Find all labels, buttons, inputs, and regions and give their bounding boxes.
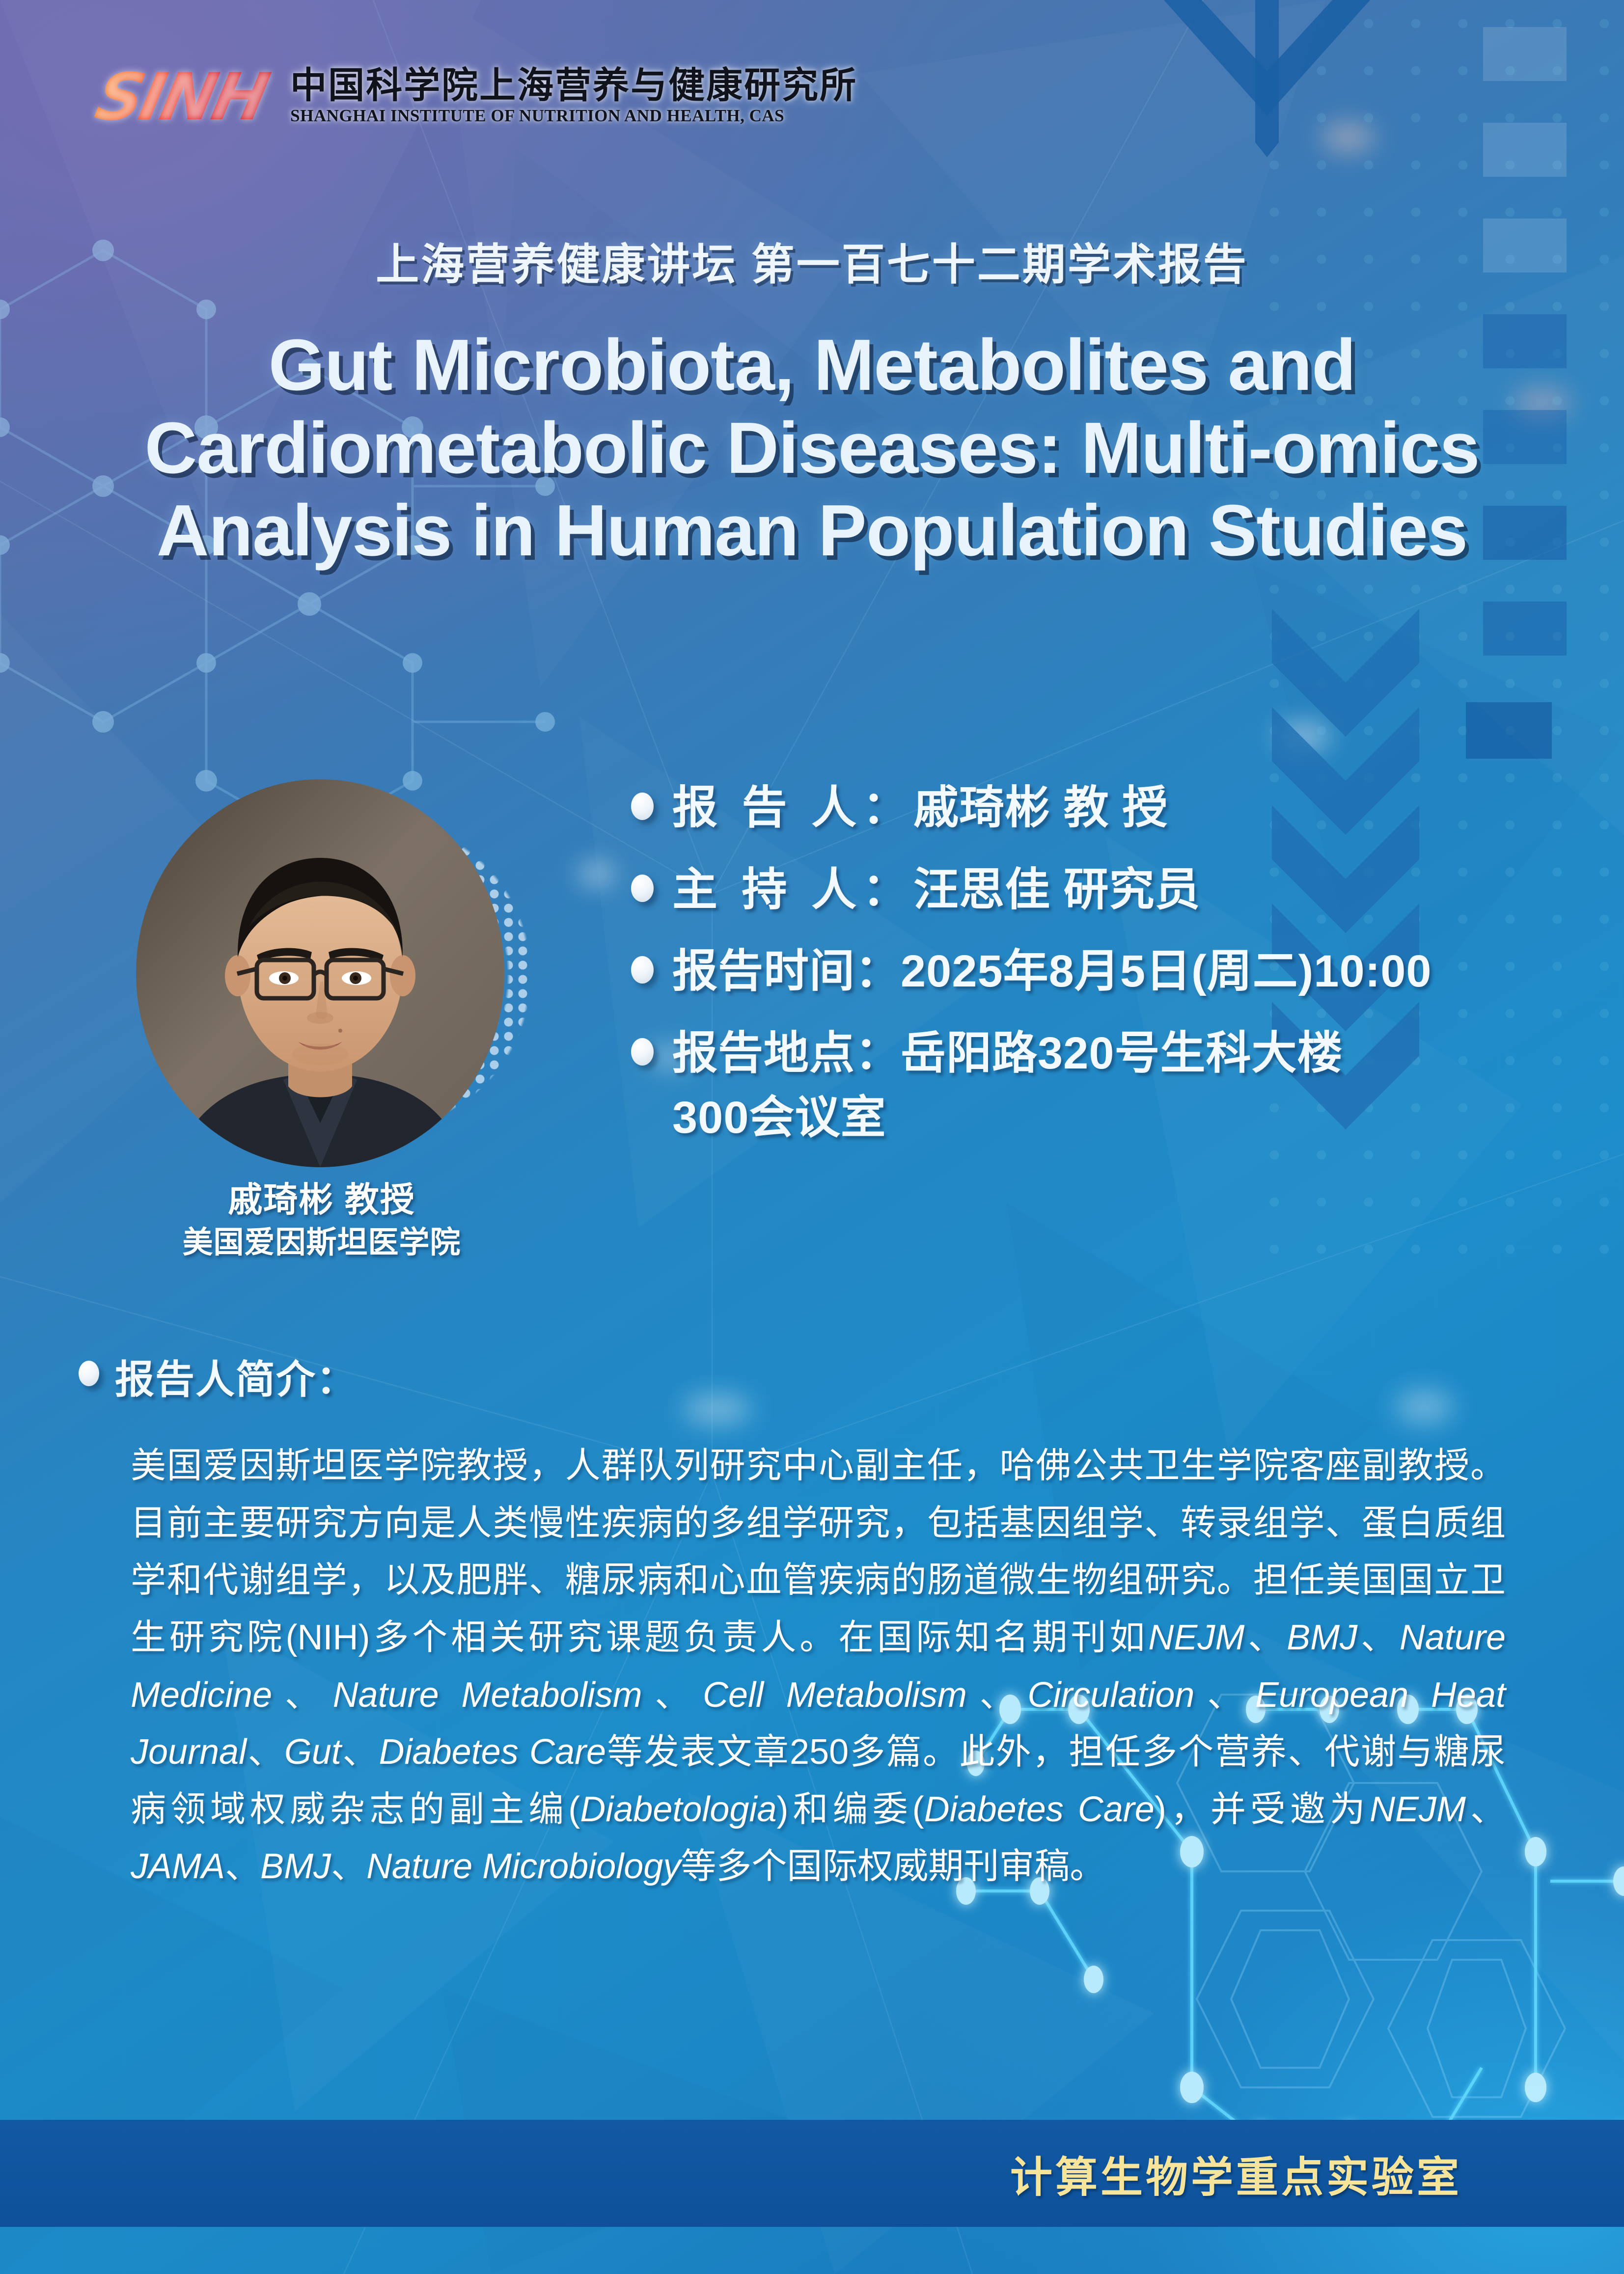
- detail-label: 报告地点：: [672, 1028, 901, 1078]
- bullet-icon: [631, 1038, 654, 1066]
- lab-name: 计算生物学重点实验室: [1010, 2143, 1462, 2204]
- list-item: 报 告 人：戚琦彬 教 授: [631, 776, 1594, 840]
- detail-value: 汪思佳 研究员: [913, 865, 1201, 915]
- detail-value: 戚琦彬 教 授: [913, 783, 1168, 833]
- speaker-name: 戚琦彬 教授: [86, 1177, 557, 1222]
- institute-logo: SINH 中国科学院上海营养与健康研究所 SHANGHAI INSTITUTE …: [97, 67, 857, 128]
- down-arrow-icon: [1164, 0, 1370, 177]
- decor-square: [1483, 602, 1567, 656]
- bio-paragraph: 美国爱因斯坦医学院教授，人群队列研究中心副主任，哈佛公共卫生学院客座副教授。目前…: [131, 1437, 1506, 1895]
- speaker-portrait-block: 戚琦彬 教授 美国爱因斯坦医学院: [106, 759, 602, 1279]
- footer-bar: 计算生物学重点实验室: [0, 2120, 1624, 2227]
- speaker-affiliation: 美国爱因斯坦医学院: [86, 1222, 557, 1263]
- list-item: 报告地点：岳阳路320号生科大楼 300会议室: [631, 1021, 1594, 1150]
- decor-square: [1483, 27, 1567, 81]
- detail-host: 主 持 人：汪思佳 研究员: [672, 858, 1201, 922]
- institute-name-cn: 中国科学院上海营养与健康研究所: [290, 67, 857, 105]
- institute-name-en: SHANGHAI INSTITUTE OF NUTRITION AND HEAL…: [290, 107, 857, 126]
- bullet-icon: [631, 875, 654, 902]
- bullet-icon: [79, 1361, 99, 1386]
- bullet-icon: [631, 956, 654, 984]
- event-details-list: 报 告 人：戚琦彬 教 授 主 持 人：汪思佳 研究员 报告时间：2025年8月…: [631, 776, 1594, 1167]
- detail-speaker: 报 告 人：戚琦彬 教 授: [672, 776, 1168, 840]
- list-item: 报告时间：2025年8月5日(周二)10:00: [631, 939, 1594, 1004]
- list-item: 主 持 人：汪思佳 研究员: [631, 858, 1594, 922]
- detail-venue: 报告地点：岳阳路320号生科大楼 300会议室: [672, 1021, 1343, 1150]
- detail-value: 2025年8月5日(周二)10:00: [901, 946, 1432, 996]
- seminar-poster: SINH 中国科学院上海营养与健康研究所 SHANGHAI INSTITUTE …: [0, 0, 1624, 2274]
- page-title: Gut Microbiota, Metabolites and Cardiome…: [29, 324, 1595, 573]
- sinh-logo-mark: SINH: [91, 67, 276, 128]
- avatar: [136, 779, 504, 1167]
- detail-label: 主 持 人：: [672, 865, 913, 915]
- decor-square: [1466, 702, 1552, 759]
- bio-heading: 报告人简介：: [115, 1348, 357, 1405]
- series-subtitle: 上海营养健康讲坛 第一百七十二期学术报告: [0, 230, 1624, 292]
- bullet-icon: [631, 793, 654, 820]
- detail-label: 报告时间：: [672, 946, 901, 996]
- speaker-bio-section: 报告人简介： 美国爱因斯坦医学院教授，人群队列研究中心副主任，哈佛公共卫生学院客…: [79, 1348, 1557, 1895]
- detail-time: 报告时间：2025年8月5日(周二)10:00: [672, 939, 1432, 1004]
- speaker-caption: 戚琦彬 教授 美国爱因斯坦医学院: [86, 1177, 557, 1263]
- decor-square: [1483, 123, 1567, 177]
- bio-heading-row: 报告人简介：: [79, 1348, 1557, 1405]
- detail-label: 报 告 人：: [672, 783, 913, 833]
